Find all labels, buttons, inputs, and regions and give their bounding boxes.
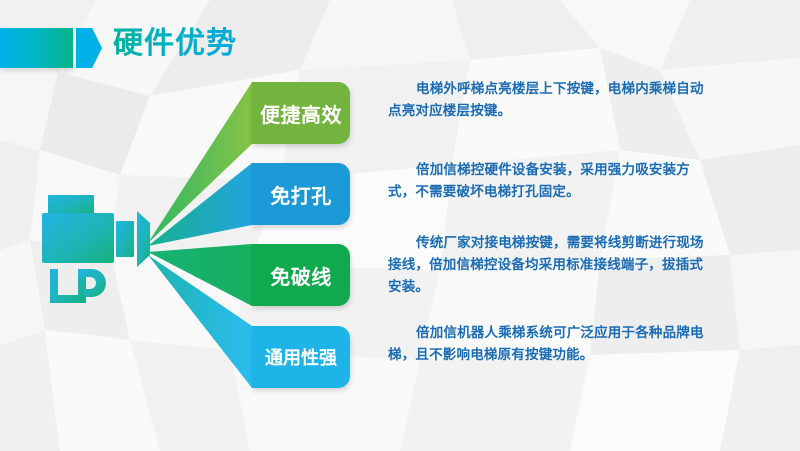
advantage-description: 倍加信梯控硬件设备安装，采用强力吸安装方式，不需要破坏电梯打孔固定。 [388, 159, 712, 203]
projector-icon [40, 185, 165, 320]
advantage-label-badge[interactable]: 免打孔 [252, 163, 350, 225]
chevron-right-icon [76, 28, 102, 68]
slide-canvas: 便捷高效 电梯外呼梯点亮楼层上下按键，电梯内乘梯自动点亮对应楼层按键。 免打孔 … [0, 0, 800, 451]
advantage-label-badge[interactable]: 免破线 [252, 244, 350, 306]
page-title: 硬件优势 [113, 23, 237, 65]
advantage-label-text: 免打孔 [270, 180, 332, 209]
advantage-label-badge[interactable]: 便捷高效 [252, 82, 350, 144]
advantage-label-text: 便捷高效 [260, 99, 342, 128]
advantage-label-text: 通用性强 [265, 344, 337, 370]
banner-bar [0, 28, 73, 68]
advantage-description: 倍加信机器人乘梯系统可广泛应用于各种品牌电梯，且不影响电梯原有按键功能。 [388, 322, 712, 366]
advantage-label-text: 免破线 [270, 261, 332, 290]
advantage-label-badge[interactable]: 通用性强 [252, 326, 350, 388]
title-banner [0, 28, 102, 68]
advantage-description: 电梯外呼梯点亮楼层上下按键，电梯内乘梯自动点亮对应楼层按键。 [388, 78, 712, 122]
advantage-description: 传统厂家对接电梯按键，需要将线剪断进行现场接线，倍加信梯控设备均采用标准接线端子… [388, 232, 712, 298]
